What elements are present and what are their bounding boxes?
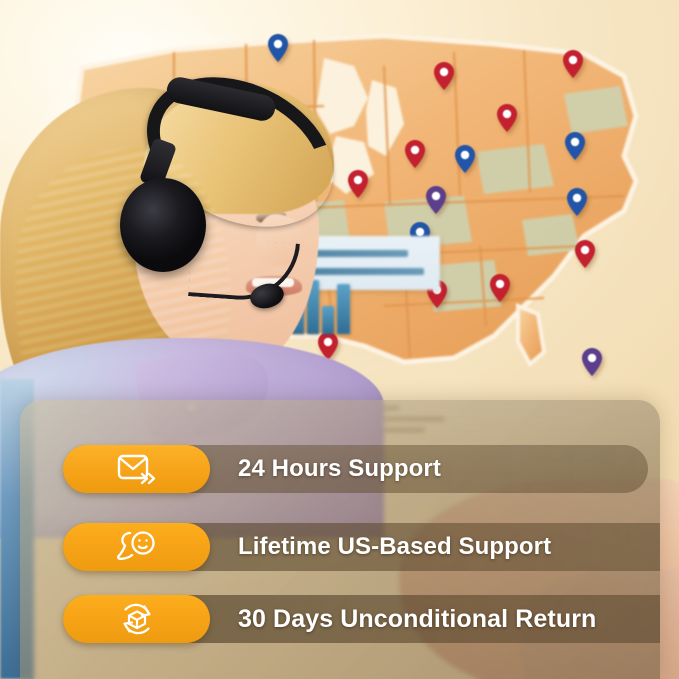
- map-pin: [405, 140, 425, 168]
- map-pin: [582, 348, 602, 376]
- feature-label: Lifetime US-Based Support: [238, 533, 551, 561]
- map-pin: [455, 145, 475, 173]
- feature-row-lifetime-us-based-support[interactable]: Lifetime US-Based Support: [63, 523, 660, 571]
- feature-rows: 24 Hours Support Lifetime US-Based Suppo…: [20, 400, 660, 679]
- feature-label: 30 Days Unconditional Return: [238, 605, 596, 634]
- support-agent: [0, 28, 354, 448]
- map-pin: [497, 104, 517, 132]
- map-pin: [490, 274, 510, 302]
- features-overlay: 24 Hours Support Lifetime US-Based Suppo…: [20, 400, 660, 679]
- map-pin: [575, 240, 595, 268]
- feature-label: 24 Hours Support: [238, 455, 441, 483]
- map-pin: [563, 50, 583, 78]
- product-feature-image: 24 Hours Support Lifetime US-Based Suppo…: [0, 0, 679, 679]
- box-return-icon[interactable]: [63, 595, 210, 643]
- feature-row-24-hours-support[interactable]: 24 Hours Support: [63, 445, 648, 493]
- envelope-send-icon[interactable]: [63, 445, 210, 493]
- map-pin: [565, 132, 585, 160]
- feature-row-30-days-unconditional-return[interactable]: 30 Days Unconditional Return: [63, 595, 660, 643]
- phone-smile-icon[interactable]: [63, 523, 210, 571]
- map-pin: [434, 62, 454, 90]
- map-pin: [567, 188, 587, 216]
- map-pin: [426, 186, 446, 214]
